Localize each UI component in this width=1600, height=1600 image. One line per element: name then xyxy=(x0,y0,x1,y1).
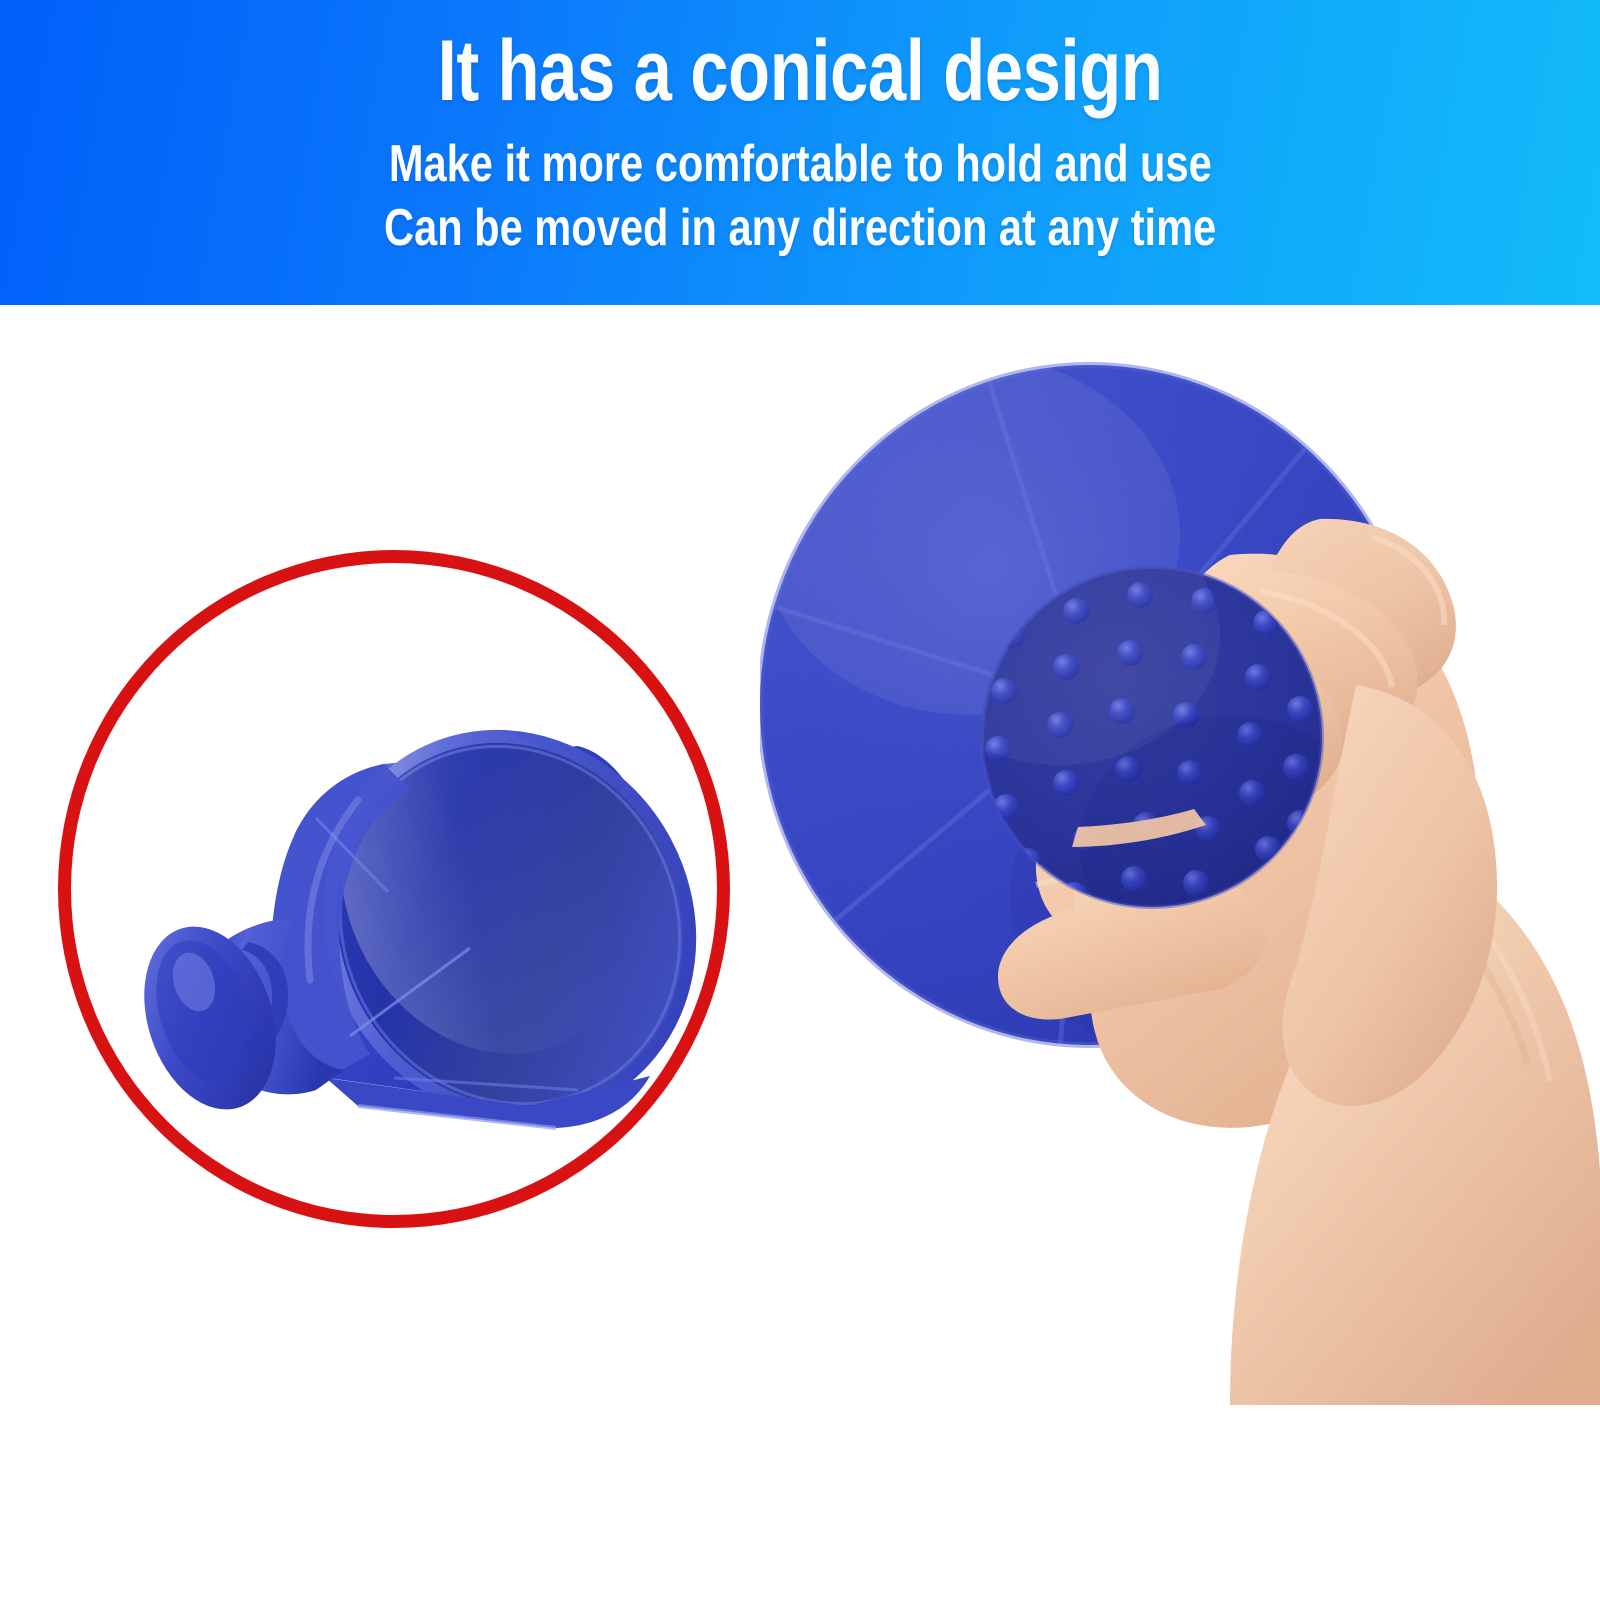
hand-holding-cone-illustration xyxy=(760,305,1600,1405)
right-product-figure xyxy=(760,305,1600,1405)
header-banner: It has a conical design Make it more com… xyxy=(0,0,1600,305)
subtitle-line-1: Make it more comfortable to hold and use xyxy=(389,134,1212,195)
header-text-block: It has a conical design Make it more com… xyxy=(0,0,1600,305)
product-feature-image: It has a conical design Make it more com… xyxy=(0,0,1600,1600)
subtitle-line-2: Can be moved in any direction at any tim… xyxy=(384,198,1216,259)
circle-outline-icon xyxy=(58,550,730,1228)
left-product-figure xyxy=(0,305,790,1305)
product-photo-area xyxy=(0,305,1600,1600)
page-title: It has a conical design xyxy=(438,26,1163,116)
